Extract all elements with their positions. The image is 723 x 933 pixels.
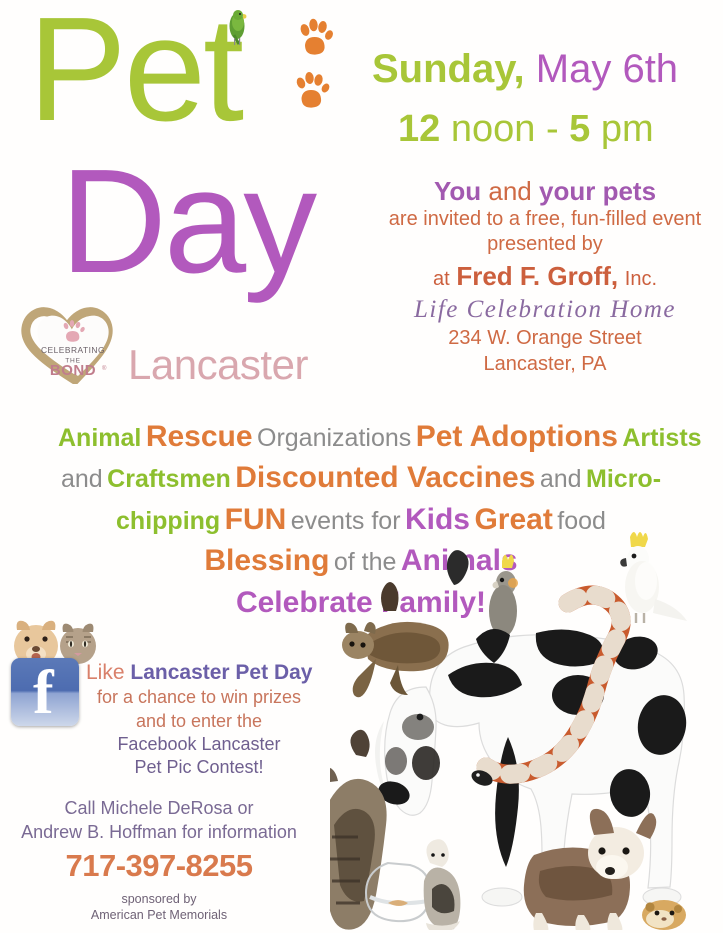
- facebook-line4: Facebook Lancaster: [86, 733, 312, 756]
- event-date: May 6th: [536, 47, 678, 91]
- time-end: 5: [569, 108, 590, 150]
- event-time-line: 12 noon - 5 pm: [398, 110, 654, 150]
- page-title-line2: Day: [60, 148, 314, 296]
- venue-inc: Inc.: [625, 268, 657, 290]
- invitation-and: and: [488, 176, 531, 206]
- celebrating-the-bond-logo: CELEBRATING THE BOND ®: [20, 302, 130, 384]
- dog-and-cat-photo: [8, 612, 100, 664]
- invitation-block: You and your pets are invited to a free,…: [370, 176, 720, 377]
- event-highlight-word: chipping: [116, 507, 220, 535]
- time-dash: -: [546, 108, 559, 150]
- invitation-you: You: [434, 176, 481, 206]
- event-highlight-word: FUN: [225, 503, 287, 536]
- facebook-promo-text: Like Lancaster Pet Day for a chance to w…: [86, 659, 312, 780]
- contact-line1: Call Michele DeRosa or: [14, 796, 304, 820]
- facebook-f-glyph: f: [33, 662, 54, 724]
- invitation-headline: You and your pets: [370, 176, 720, 207]
- venue-name: Fred F. Groff,: [456, 261, 618, 291]
- invitation-line2: are invited to a free, fun-filled event: [370, 207, 720, 233]
- event-date-comma: ,: [514, 47, 525, 91]
- event-highlight-word: Blessing: [204, 544, 329, 577]
- facebook-like-label: Like: [86, 661, 125, 684]
- ferret-icon: [424, 839, 461, 930]
- event-highlight-word: Rescue: [146, 420, 253, 453]
- logo-celebrating-text: CELEBRATING: [41, 345, 105, 355]
- green-parrot-icon: [226, 9, 248, 51]
- venue-city-state: Lancaster, PA: [370, 351, 720, 377]
- venue-tagline: Life Celebration Home: [370, 294, 720, 325]
- time-start: 12: [398, 108, 440, 150]
- montage-caption: great-dane-dog: [0, 0, 1, 1]
- venue-line: at Fred F. Groff, Inc.: [370, 260, 720, 293]
- event-day: Sunday: [372, 47, 514, 91]
- facebook-icon[interactable]: f: [11, 658, 79, 726]
- event-highlight-word: Craftsmen: [107, 465, 231, 493]
- event-highlight-word: Artists: [622, 424, 701, 452]
- facebook-page-name: Lancaster Pet Day: [130, 661, 312, 684]
- event-highlight-word: and: [540, 465, 582, 493]
- contact-block: Call Michele DeRosa or Andrew B. Hoffman…: [14, 796, 304, 924]
- paw-print-icon: [293, 70, 331, 110]
- event-highlight-row: Animal Rescue Organizations Pet Adoption…: [58, 416, 664, 457]
- event-highlight-word: Pet Adoptions: [416, 420, 618, 453]
- event-highlight-word: Discounted Vaccines: [235, 461, 535, 494]
- facebook-line3: and to enter the: [86, 710, 312, 733]
- event-highlight-word: Micro-: [586, 465, 661, 493]
- sponsor-name: American Pet Memorials: [14, 907, 304, 924]
- phone-number[interactable]: 717-397-8255: [14, 848, 304, 884]
- page-title-line1: Pet: [28, 0, 241, 144]
- logo-city-label: Lancaster: [128, 344, 308, 386]
- facebook-line2: for a chance to win prizes: [86, 686, 312, 709]
- event-highlight-word: and: [61, 465, 103, 493]
- event-highlight-row: and Craftsmen Discounted Vaccines and Mi…: [58, 457, 664, 498]
- facebook-like-line: Like Lancaster Pet Day: [86, 659, 312, 686]
- venue-at: at: [433, 268, 450, 290]
- sponsor-label: sponsored by: [14, 891, 304, 908]
- event-highlight-word: Organizations: [257, 424, 411, 452]
- white-cockatoo-icon: [620, 532, 687, 623]
- time-noon: noon: [451, 108, 536, 150]
- paw-print-icon: [296, 18, 334, 58]
- contact-line2: Andrew B. Hoffman for information: [14, 820, 304, 844]
- facebook-line5: Pet Pic Contest!: [86, 756, 312, 779]
- pet-day-poster: Pet Day CELEBRAT: [0, 0, 723, 933]
- venue-street: 234 W. Orange Street: [370, 325, 720, 351]
- time-pm: pm: [601, 108, 654, 150]
- sponsor-block: sponsored by American Pet Memorials: [14, 891, 304, 925]
- hamster-icon: [642, 900, 686, 930]
- invitation-your-pets: your pets: [539, 176, 656, 206]
- event-highlight-word: Animal: [58, 424, 141, 452]
- logo-registered-mark: ®: [102, 365, 107, 372]
- event-date-line: Sunday, May 6th: [372, 48, 678, 90]
- invitation-line3: presented by: [370, 232, 720, 258]
- logo-bond-text: BOND: [50, 362, 96, 379]
- animal-group-photo: [330, 525, 723, 930]
